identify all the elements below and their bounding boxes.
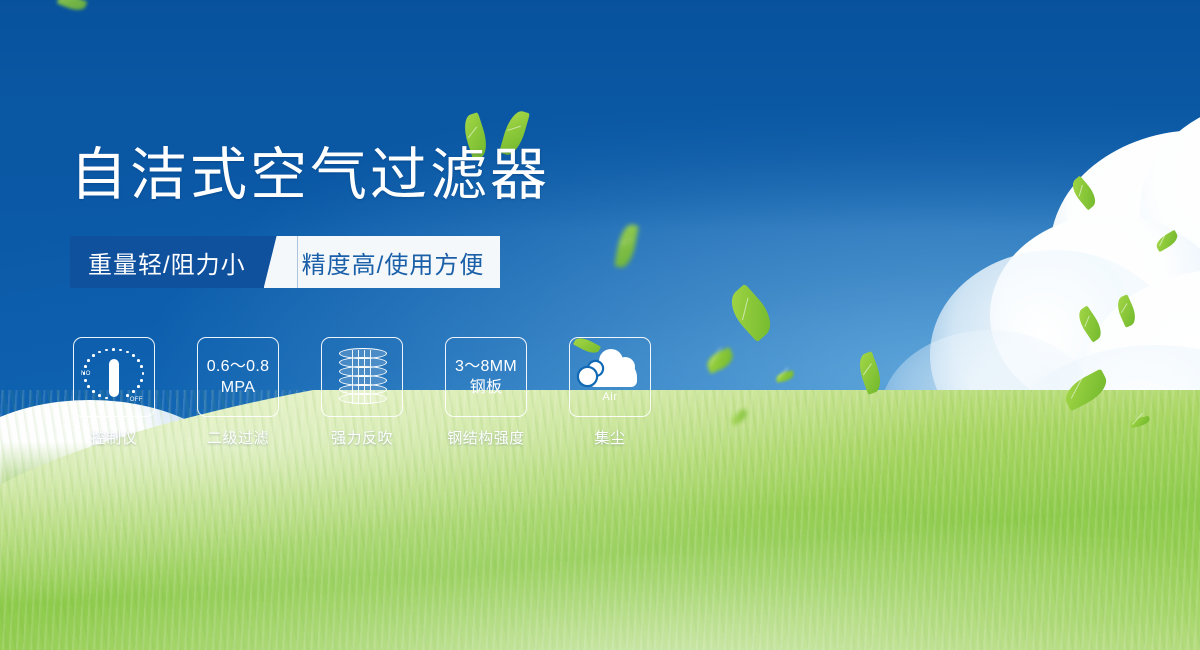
feature-icon-box[interactable]: 3～8MM 钢板 [445,337,527,417]
steel-icon-value: 3～8MM [455,356,517,377]
pressure-icon-value: 0.6～0.8 [207,356,270,377]
pressure-icon-unit: MPA [221,377,255,398]
air-cloud-icon [579,351,641,393]
product-hero-banner: 自洁式空气过滤器 重量轻/阻力小 精度高/使用方便 NO OFF [0,0,1200,650]
gauge-label-off: OFF [130,397,143,403]
subtitle-bar: 重量轻/阻力小 精度高/使用方便 [70,236,500,288]
feature-label: 集尘 [594,427,625,448]
steel-icon-unit: 钢板 [470,377,503,398]
feature-label: 控制仪 [91,427,138,448]
feature-label: 强力反吹 [331,427,393,448]
feature-icon-box[interactable] [321,337,403,417]
feature-item[interactable]: 0.6～0.8 MPA 二级过滤 [197,337,279,448]
feature-label: 二级过滤 [207,427,269,448]
feature-item[interactable]: 强力反吹 [321,337,403,448]
feature-icon-box[interactable]: 0.6～0.8 MPA [197,337,279,417]
feature-label: 钢结构强度 [447,427,525,448]
gauge-icon: NO OFF [82,347,146,407]
feature-icon-box[interactable]: Air [569,337,651,417]
feature-item[interactable]: 3～8MM 钢板 钢结构强度 [445,337,527,448]
subtitle-divider-icon [264,236,298,288]
feature-item[interactable]: NO OFF [73,337,155,448]
page-title: 自洁式空气过滤器 [70,140,550,210]
subtitle-right: 精度高/使用方便 [298,236,501,288]
filter-stack-icon [339,348,385,406]
feature-item[interactable]: Air 集尘 [569,337,651,448]
feature-list: NO OFF [73,337,651,448]
feature-icon-box[interactable]: NO OFF [73,337,155,417]
subtitle-left: 重量轻/阻力小 [70,236,264,288]
